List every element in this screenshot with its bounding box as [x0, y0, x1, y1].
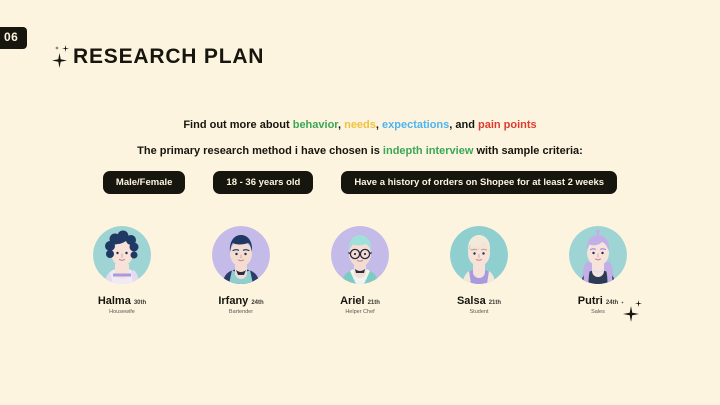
avatar-halma	[93, 226, 151, 284]
persona-card-irfany: Irfany 24th Bartender	[210, 226, 272, 316]
persona-name: Ariel	[340, 295, 364, 307]
criteria-pill-orders: Have a history of orders on Shopee for a…	[341, 171, 617, 194]
highlight-needs: needs	[344, 119, 376, 131]
intro-prefix: Find out more about	[183, 119, 292, 131]
intro-sep-3: , and	[449, 119, 478, 131]
highlight-pain-points: pain points	[478, 119, 537, 131]
persona-card-halma: Halma 30th Housewife	[91, 226, 153, 316]
sparkle-icon	[50, 44, 72, 70]
criteria-pill-age: 18 - 36 years old	[213, 171, 313, 194]
persona-name: Putri	[578, 295, 603, 307]
highlight-method: indepth interview	[383, 145, 473, 157]
avatar-putri	[569, 226, 627, 284]
method-prefix: The primary research method i have chose…	[137, 145, 383, 157]
persona-role: Bartender	[229, 308, 253, 316]
avatar-irfany	[212, 226, 270, 284]
persona-name-row: Putri 24th	[578, 295, 618, 307]
persona-row: Halma 30th Housewife Ir	[0, 226, 720, 316]
avatar-ariel	[331, 226, 389, 284]
persona-name-row: Halma 30th	[98, 295, 146, 307]
persona-name: Salsa	[457, 295, 486, 307]
persona-role: Student	[470, 308, 489, 316]
intro-block: Find out more about behavior, needs, exp…	[0, 119, 720, 158]
persona-age: 21th	[489, 299, 501, 307]
persona-role: Sales	[591, 308, 605, 316]
persona-name-row: Irfany 24th	[218, 295, 263, 307]
intro-line-1: Find out more about behavior, needs, exp…	[0, 119, 720, 132]
persona-age: 30th	[134, 299, 146, 307]
sparkle-icon	[620, 298, 646, 324]
page-title-row: RESEARCH PLAN	[50, 44, 264, 70]
persona-card-ariel: Ariel 21th Helper Chef	[329, 226, 391, 316]
highlight-expectations: expectations	[382, 119, 449, 131]
persona-name: Irfany	[218, 295, 248, 307]
page-title: RESEARCH PLAN	[73, 44, 264, 70]
avatar-salsa	[450, 226, 508, 284]
persona-age: 21th	[368, 299, 380, 307]
persona-age: 24th	[251, 299, 263, 307]
intro-line-2: The primary research method i have chose…	[0, 145, 720, 158]
persona-role: Housewife	[109, 308, 135, 316]
criteria-pill-row: Male/Female 18 - 36 years old Have a his…	[0, 171, 720, 194]
persona-name: Halma	[98, 295, 131, 307]
persona-age: 24th	[606, 299, 618, 307]
persona-name-row: Salsa 21th	[457, 295, 501, 307]
criteria-pill-gender: Male/Female	[103, 171, 186, 194]
persona-card-salsa: Salsa 21th Student	[448, 226, 510, 316]
highlight-behavior: behavior	[293, 119, 338, 131]
persona-name-row: Ariel 21th	[340, 295, 380, 307]
slide-number-badge: 06	[0, 27, 27, 49]
persona-role: Helper Chef	[345, 308, 374, 316]
method-suffix: with sample criteria:	[473, 145, 582, 157]
